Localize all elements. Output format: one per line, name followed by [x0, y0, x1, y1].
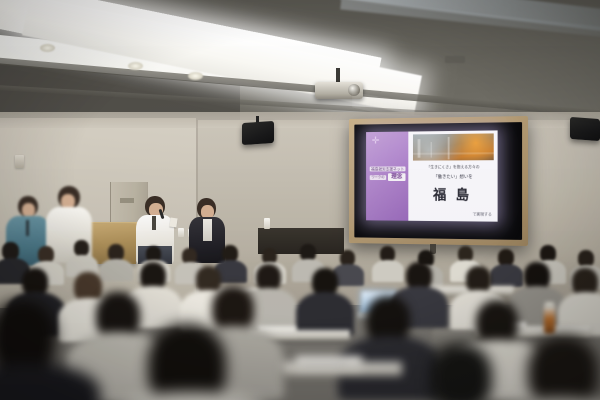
wall-speaker-left: [242, 121, 274, 145]
ceiling: [0, 0, 600, 128]
projection-screen-frame: ✛ 福島就労支援ネット ワークの 理念 「生きにくさ」を抱える方々の: [349, 116, 528, 246]
slide-title: 理念: [388, 173, 406, 181]
slide-right-panel: 「生きにくさ」を抱える方々の 「働きたい」想いを 福 島 で実現する: [408, 130, 497, 221]
downlight-icon: [40, 44, 55, 52]
slide-sub-line: ワークの: [370, 175, 386, 180]
projector-lens-icon: [348, 84, 360, 96]
slide-headline: 福 島: [408, 186, 497, 204]
paper-cup: [264, 218, 270, 229]
slide-left-panel: ✛ 福島就労支援ネット ワークの 理念: [366, 132, 408, 221]
slide-line-2: 「働きたい」想いを: [412, 174, 495, 180]
door-sign: [120, 198, 134, 203]
inner-shirt: [203, 219, 212, 241]
slide-title-row: ワークの 理念: [370, 173, 406, 181]
downlight-icon: [128, 62, 143, 70]
handheld-notes: [169, 218, 177, 228]
seminar-room-photo: ✛ 福島就労支援ネット ワークの 理念 「生きにくさ」を抱える方々の: [0, 0, 600, 400]
handout-papers[interactable]: [296, 356, 362, 370]
city-street-photo: [413, 133, 494, 160]
slide-line-1: 「生きにくさ」を抱える方々の: [412, 164, 495, 169]
paper-cup: [178, 228, 184, 237]
slide-org-line: 福島就労支援ネット: [370, 166, 406, 171]
plus-icon: ✛: [372, 137, 380, 146]
wall-mounted-box: [15, 155, 24, 168]
slide-left-text-block: 福島就労支援ネット ワークの 理念: [370, 166, 406, 181]
slide-footnote: で実現する: [472, 212, 491, 218]
ceiling-vent-icon: [445, 56, 465, 63]
projected-slide: ✛ 福島就労支援ネット ワークの 理念 「生きにくさ」を抱える方々の: [366, 130, 498, 221]
drink-bottle[interactable]: [544, 306, 555, 334]
wall-speaker-right: [570, 117, 600, 141]
downlight-icon: [188, 72, 203, 80]
lanyard-icon: [26, 220, 29, 236]
bottle-cap: [545, 302, 554, 307]
necktie-icon: [152, 216, 156, 230]
